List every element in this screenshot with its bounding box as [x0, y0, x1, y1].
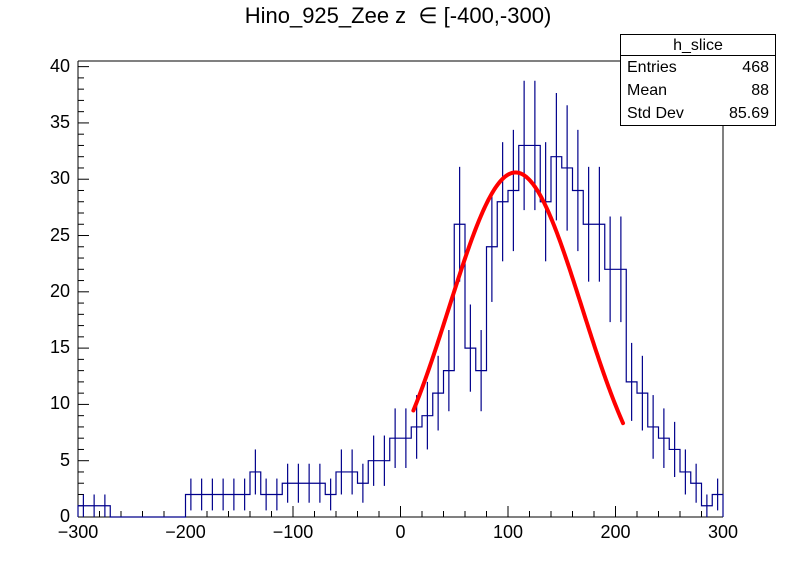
y-axis-tick-label: 40: [16, 56, 70, 77]
x-axis-tick-label: 200: [576, 522, 656, 543]
y-axis-tick-label: 10: [16, 393, 70, 414]
y-axis-tick-label: 15: [16, 337, 70, 358]
y-axis-tick-label: 25: [16, 225, 70, 246]
stats-key-stddev: Std Dev: [627, 102, 684, 125]
root-canvas: Hino_925_Zee z ∈ [-400,-300) h_slice Ent…: [0, 0, 796, 572]
y-axis-tick-label: 30: [16, 168, 70, 189]
x-axis-tick-label: −300: [38, 522, 118, 543]
y-axis-tick-label: 35: [16, 112, 70, 133]
stats-box: h_slice Entries 468 Mean 88 Std Dev 85.6…: [620, 34, 776, 126]
stats-row-mean: Mean 88: [621, 79, 775, 102]
stats-box-title: h_slice: [621, 35, 775, 56]
error-bars: [83, 81, 717, 517]
stats-key-entries: Entries: [627, 56, 677, 79]
stats-value-mean: 88: [751, 79, 769, 102]
x-axis-tick-label: 300: [683, 522, 763, 543]
x-axis-tick-label: 100: [468, 522, 548, 543]
y-axis-tick-label: 5: [16, 450, 70, 471]
stats-key-mean: Mean: [627, 79, 667, 102]
stats-row-stddev: Std Dev 85.69: [621, 102, 775, 125]
stats-value-stddev: 85.69: [729, 102, 769, 125]
x-axis-tick-label: −200: [146, 522, 226, 543]
x-axis-tick-label: 0: [361, 522, 441, 543]
stats-row-entries: Entries 468: [621, 56, 775, 79]
y-axis-tick-label: 20: [16, 281, 70, 302]
stats-value-entries: 468: [742, 56, 769, 79]
histogram-outline: [78, 145, 723, 517]
x-axis-tick-label: −100: [253, 522, 333, 543]
fit-curve: [413, 172, 623, 423]
